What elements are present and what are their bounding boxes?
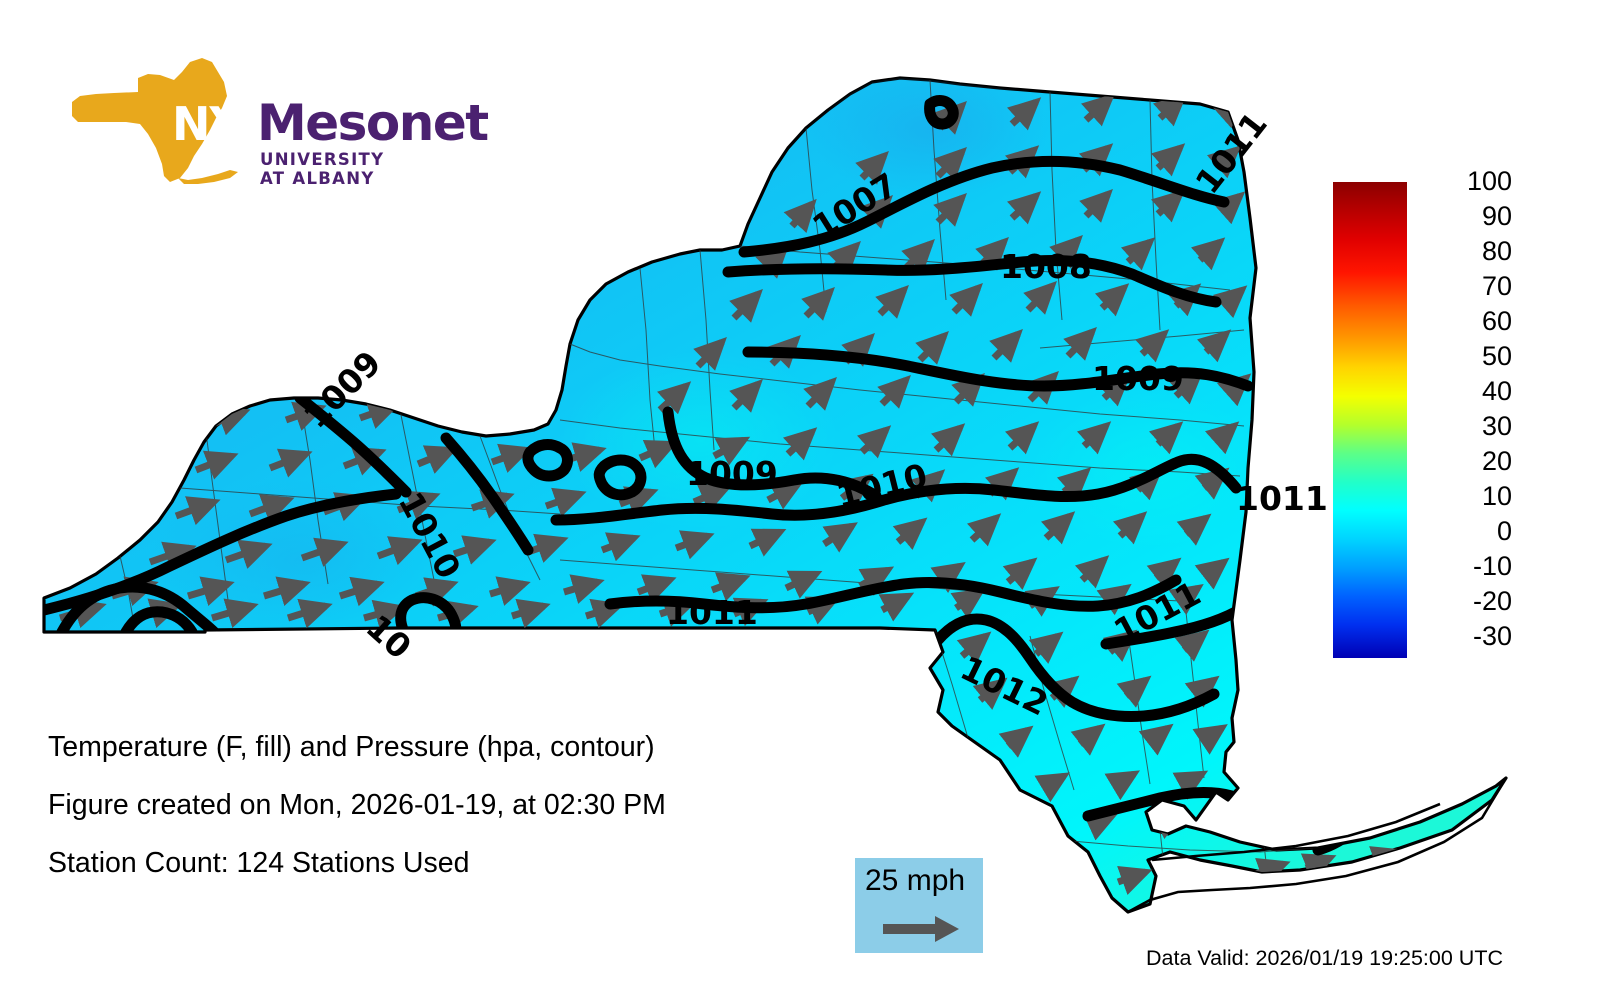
caption-created: Figure created on Mon, 2026-01-19, at 02… xyxy=(48,776,808,834)
colorbar-tick: 40 xyxy=(1482,378,1512,405)
wind-key-label: 25 mph xyxy=(865,864,965,898)
arrow-right-icon xyxy=(883,914,963,944)
contour-label: 1008 xyxy=(1000,247,1092,286)
wind-speed-key: 25 mph xyxy=(855,858,983,953)
nys-mesonet-logo: NYS Mesonet UNIVERSITY AT ALBANY xyxy=(52,52,402,192)
colorbar-tick-labels: 100 90 80 70 60 50 40 30 20 10 0 -10 -20… xyxy=(1412,160,1512,680)
figure-caption: Temperature (F, fill) and Pressure (hpa,… xyxy=(48,718,808,892)
colorbar-tick: 80 xyxy=(1482,238,1512,265)
colorbar-tick: 30 xyxy=(1482,413,1512,440)
contour-label: 1011 xyxy=(666,593,758,632)
colorbar-tick: 60 xyxy=(1482,308,1512,335)
colorbar-tick: 50 xyxy=(1482,343,1512,370)
caption-station-count: Station Count: 124 Stations Used xyxy=(48,834,808,892)
logo-mesonet-text: Mesonet xyxy=(257,94,488,152)
data-valid-timestamp: Data Valid: 2026/01/19 19:25:00 UTC xyxy=(1146,946,1503,971)
colorbar-tick: 70 xyxy=(1482,273,1512,300)
colorbar-tick: 90 xyxy=(1482,203,1512,230)
temperature-colorbar xyxy=(1333,182,1407,658)
colorbar-tick: -20 xyxy=(1473,588,1512,615)
colorbar-tick: 0 xyxy=(1497,518,1512,545)
colorbar-tick: 100 xyxy=(1467,168,1512,195)
colorbar-tick: -10 xyxy=(1473,553,1512,580)
figure-root: 1007 1008 1009 1009 1009 1010 1010 1011 … xyxy=(0,0,1600,1000)
contour-label: 1009 xyxy=(1092,359,1184,398)
contour-label: 1009 xyxy=(686,454,778,493)
colorbar-tick: -30 xyxy=(1473,623,1512,650)
caption-variables: Temperature (F, fill) and Pressure (hpa,… xyxy=(48,718,808,776)
colorbar-tick: 20 xyxy=(1482,448,1512,475)
colorbar-tick: 10 xyxy=(1482,483,1512,510)
contour-label: 1011 xyxy=(1236,479,1328,518)
logo-university-text: UNIVERSITY AT ALBANY xyxy=(260,150,402,188)
